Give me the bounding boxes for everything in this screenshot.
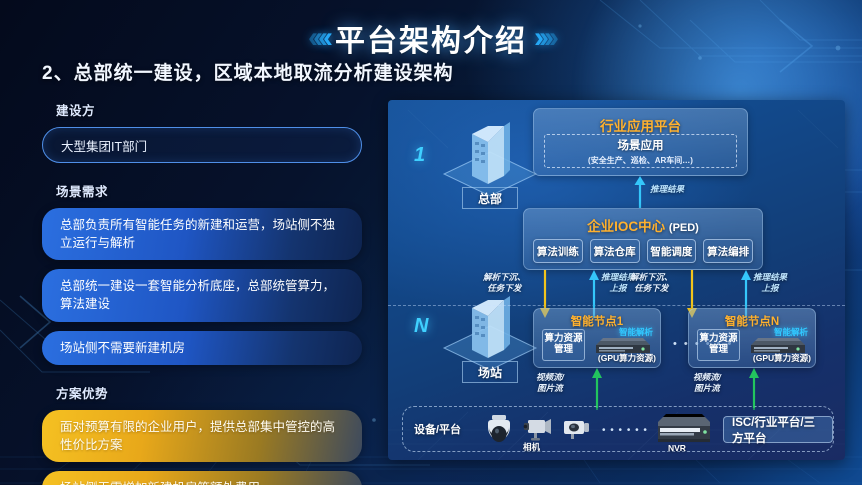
gpu-resource-label-n: (GPU算力资源)	[753, 352, 811, 364]
arrow-up-to-platform-icon	[633, 176, 647, 208]
nvr-caption: NVR	[668, 443, 686, 453]
ioc-title: 企业IOC中心	[587, 219, 665, 234]
scenario-pill: 总部负责所有智能任务的新建和运营，场站侧不独立运行与解析	[42, 208, 362, 260]
ioc-title-row: 企业IOC中心 (PED)	[524, 215, 762, 235]
camera-caption: 相机	[523, 441, 540, 453]
ioc-module[interactable]: 智能调度	[647, 239, 697, 263]
scenario-app-title: 场景应用	[618, 137, 664, 153]
building-icon	[442, 288, 538, 374]
box-camera-icon	[522, 416, 552, 442]
tier-index-n: N	[414, 315, 428, 338]
chevron-right-icon: ›	[549, 23, 554, 53]
industry-platform-title: 行业应用平台	[534, 115, 747, 135]
ioc-module[interactable]: 算法仓库	[590, 239, 640, 263]
compute-resource-mgmt-1[interactable]: 算力资源管理	[542, 329, 585, 361]
bullet-camera-icon	[561, 417, 591, 441]
device-bay-label: 设备/平台	[414, 421, 461, 437]
group-label-advantage: 方案优势	[56, 383, 362, 402]
scenario-pill: 总部统一建设一套智能分析底座，总部统管算力，算法建设	[42, 269, 362, 321]
advantage-pill: 面对预算有限的企业用户，提供总部集中管控的高性价比方案	[42, 410, 362, 462]
scenario-pill: 场站侧不需要新建机房	[42, 331, 362, 365]
chevron-left-icon: ‹	[318, 23, 323, 53]
chevron-left-icon: ‹	[323, 23, 328, 53]
scenario-app-subtitle: (安全生产、巡检、AR车间…)	[588, 155, 693, 166]
group-label-scenario: 场景需求	[56, 181, 362, 200]
title-chevrons-right: › › › ›	[534, 23, 554, 53]
flow-label-stream-1: 视频流/图片流	[536, 372, 564, 393]
hq-site-group: 总部	[442, 114, 538, 209]
ioc-modules-row: 算法训练 算法仓库 智能调度 算法编排	[533, 239, 753, 263]
tier-index-1: 1	[414, 144, 425, 167]
smart-node-n-box: 智能节点N 算力资源管理 智能解析 (GPU算力资源)	[688, 308, 816, 368]
device-bay-connectors	[388, 396, 845, 410]
compute-resource-mgmt-n[interactable]: 算力资源管理	[697, 329, 740, 361]
builder-pill: 大型集团IT部门	[42, 127, 362, 163]
scenario-app-inner: 场景应用 (安全生产、巡检、AR车间…)	[544, 134, 737, 168]
architecture-diagram-panel: 1 N 总部	[388, 100, 845, 460]
gpu-resource-label-1: (GPU算力资源)	[598, 352, 656, 364]
nvr-icon	[655, 413, 711, 445]
smart-node-1-box: 智能节点1 算力资源管理 智能解析 (GPU算力资源)	[533, 308, 661, 368]
building-icon	[442, 114, 538, 200]
advantage-pill: 场站侧无需增加新建机房等额外费用	[42, 471, 362, 485]
flow-label-result-n: 推理结果上报	[753, 272, 787, 293]
flow-label-dispatch-n: 解析下沉、任务下发	[630, 272, 673, 293]
flow-label-to-platform: 推理结果	[650, 184, 684, 195]
flow-label-stream-n: 视频流/图片流	[693, 372, 721, 393]
device-dots: • • • • • •	[602, 425, 648, 436]
ioc-module[interactable]: 算法训练	[533, 239, 583, 263]
page-subtitle: 2、总部统一建设，区域本地取流分析建设架构	[42, 58, 454, 85]
device-platform-bay: 设备/平台 相机 • • • • • •	[402, 406, 834, 452]
flow-label-dispatch-1: 解析下沉、任务下发	[483, 272, 526, 293]
ioc-center-box: 企业IOC中心 (PED) 算法训练 算法仓库 智能调度 算法编排	[523, 208, 763, 270]
page-title: ‹ ‹ ‹ ‹ 平台架构介绍 › › › ›	[0, 16, 862, 60]
ioc-title-suffix: (PED)	[669, 222, 699, 234]
title-chevrons-left: ‹ ‹ ‹ ‹	[308, 23, 328, 53]
isc-platform-chip[interactable]: ISC/行业平台/三方平台	[723, 416, 833, 443]
dome-camera-icon	[487, 414, 511, 444]
industry-platform-box: 行业应用平台 场景应用 (安全生产、巡检、AR车间…)	[533, 108, 748, 176]
ioc-module[interactable]: 算法编排	[703, 239, 753, 263]
title-text: 平台架构介绍	[335, 16, 527, 60]
tier-separator	[388, 305, 845, 306]
left-content-column: 建设方 大型集团IT部门 场景需求 总部负责所有智能任务的新建和运营，场站侧不独…	[42, 100, 362, 485]
group-label-builder: 建设方	[56, 100, 362, 119]
station-site-group: 场站	[442, 288, 538, 383]
